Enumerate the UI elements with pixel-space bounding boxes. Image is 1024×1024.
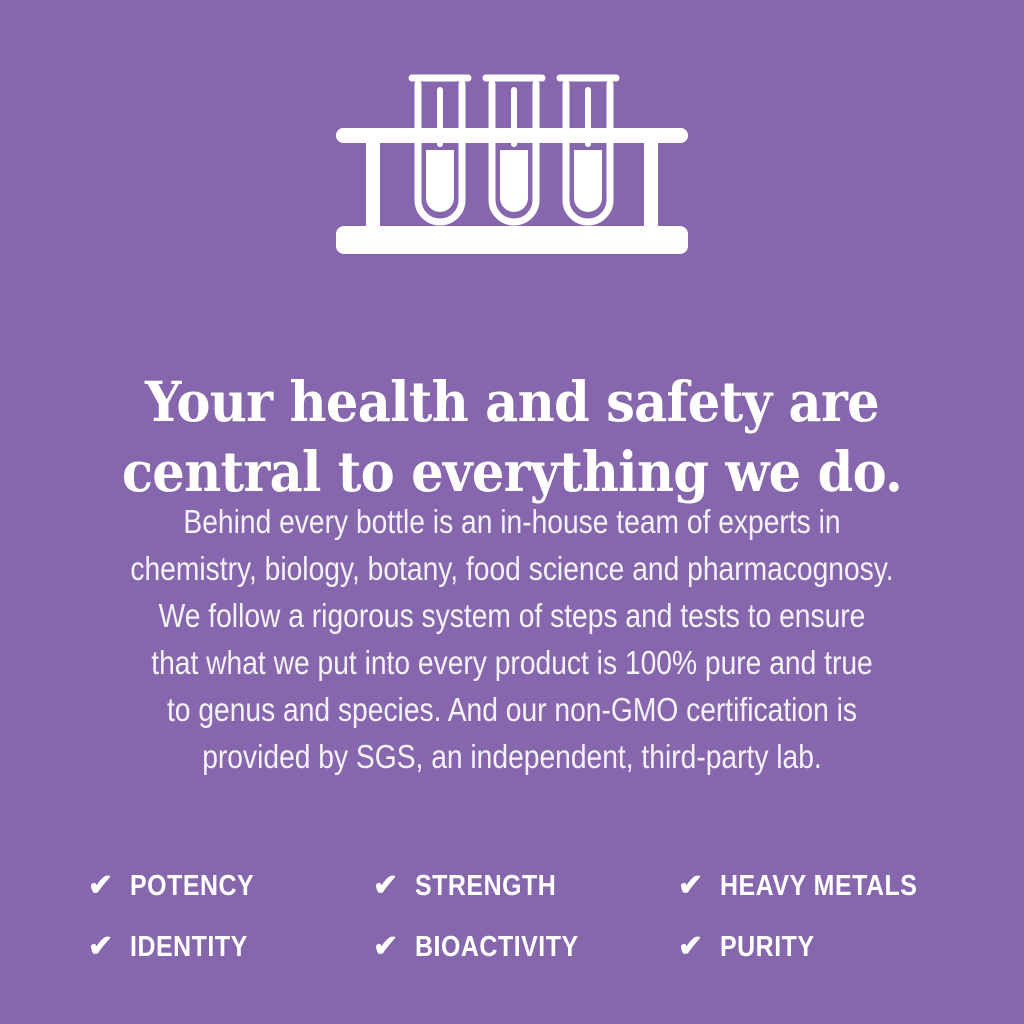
headline-line-2: central to everything we do. — [101, 437, 923, 507]
checklist-item-label: IDENTITY — [130, 931, 248, 964]
rack-leg-right — [644, 136, 658, 234]
body-line-1: Behind every bottle is an in-house team … — [74, 498, 950, 545]
check-icon: ✔ — [678, 871, 704, 901]
rack-crossbar-front — [336, 128, 688, 143]
check-icon: ✔ — [88, 871, 114, 901]
rack-leg-left — [366, 136, 380, 234]
checklist-item-potency: ✔ POTENCY — [88, 870, 373, 903]
testing-checklist: ✔ POTENCY ✔ STRENGTH ✔ HEAVY METALS ✔ ID… — [88, 856, 948, 978]
checklist-item-purity: ✔ PURITY — [678, 931, 948, 964]
body-paragraph: Behind every bottle is an in-house team … — [0, 498, 1024, 780]
headline-line-1: Your health and safety are — [101, 367, 923, 437]
checklist-item-strength: ✔ STRENGTH — [373, 870, 678, 903]
body-line-4: that what we put into every product is 1… — [74, 639, 950, 686]
tube-2-liquid — [500, 150, 528, 212]
tube-liquid-group — [426, 150, 602, 212]
tube-1-liquid — [426, 150, 454, 212]
test-tube-rack-icon — [0, 62, 1024, 272]
check-icon: ✔ — [373, 932, 399, 962]
check-icon: ✔ — [678, 932, 704, 962]
body-line-3: We follow a rigorous system of steps and… — [74, 592, 950, 639]
checklist-item-identity: ✔ IDENTITY — [88, 931, 373, 964]
test-tube-rack-svg — [336, 62, 688, 262]
checklist-item-label: STRENGTH — [415, 870, 556, 903]
body-line-5: to genus and species. And our non-GMO ce… — [74, 686, 950, 733]
checklist-item-label: PURITY — [720, 931, 815, 964]
promo-poster: Your health and safety are central to ev… — [0, 0, 1024, 1024]
checklist-item-label: HEAVY METALS — [720, 870, 917, 903]
body-line-6: provided by SGS, an independent, third-p… — [74, 733, 950, 780]
checklist-item-label: POTENCY — [130, 870, 254, 903]
checklist-item-heavy-metals: ✔ HEAVY METALS — [678, 870, 948, 903]
body-line-2: chemistry, biology, botany, food science… — [74, 545, 950, 592]
checklist-item-bioactivity: ✔ BIOACTIVITY — [373, 931, 678, 964]
check-icon: ✔ — [88, 932, 114, 962]
tube-3-liquid — [574, 150, 602, 212]
check-icon: ✔ — [373, 871, 399, 901]
page-title: Your health and safety are central to ev… — [0, 367, 1024, 507]
rack-base — [336, 226, 688, 254]
checklist-item-label: BIOACTIVITY — [415, 931, 579, 964]
